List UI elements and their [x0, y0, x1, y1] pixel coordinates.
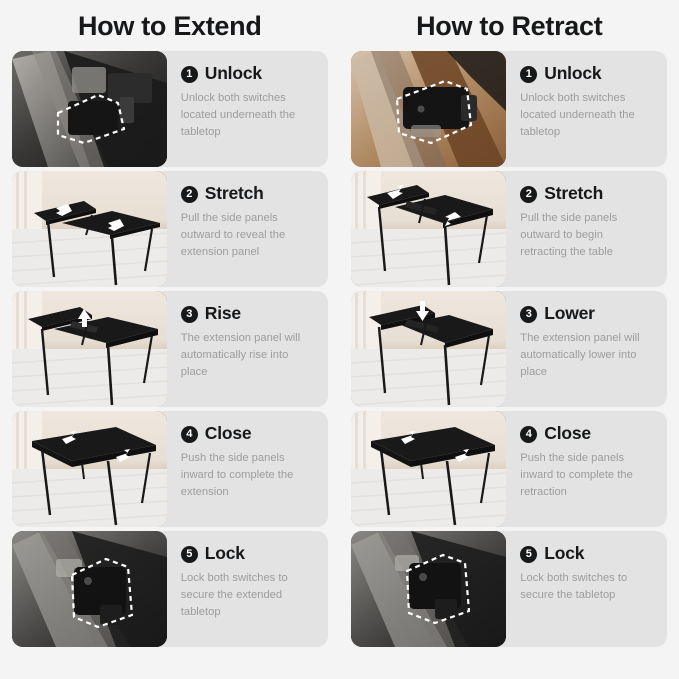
step-card: 2 Stretch Pull the side panels outward t…	[351, 171, 667, 287]
step-number-badge: 5	[181, 546, 198, 563]
step-header: 4 Close	[181, 424, 318, 443]
step-description: The extension panel will automatically r…	[181, 330, 309, 381]
step-image-table-split	[12, 171, 167, 287]
step-text: 2 Stretch Pull the side panels outward t…	[167, 171, 328, 287]
column-title-retract: How to Retract	[416, 10, 602, 42]
step-header: 5 Lock	[181, 544, 318, 563]
step-header: 4 Close	[520, 424, 657, 443]
step-card: 3 Lower The extension panel will automat…	[351, 291, 667, 407]
step-text: 5 Lock Lock both switches to secure the …	[167, 531, 328, 647]
step-image-table-split	[351, 171, 506, 287]
step-header: 1 Unlock	[520, 64, 657, 83]
step-number-badge: 1	[181, 66, 198, 83]
step-card: 5 Lock Lock both switches to secure the …	[351, 531, 667, 647]
step-text: 3 Rise The extension panel will automati…	[167, 291, 328, 407]
step-card: 1 Unlock Unlock both switches located un…	[12, 51, 328, 167]
step-number-badge: 3	[181, 306, 198, 323]
step-description: Unlock both switches located underneath …	[181, 90, 309, 141]
step-title: Lock	[205, 544, 245, 563]
step-title: Close	[205, 424, 252, 443]
step-header: 2 Stretch	[520, 184, 657, 203]
step-image-table-rise	[12, 291, 167, 407]
step-image-mechanism-wood	[351, 51, 506, 167]
instruction-sheet: How to Extend	[0, 0, 679, 679]
step-description: The extension panel will automatically l…	[520, 330, 648, 381]
step-image-mechanism	[12, 531, 167, 647]
step-number-badge: 4	[520, 426, 537, 443]
step-card: 2 Stretch Pull the side panels outward t…	[12, 171, 328, 287]
step-header: 5 Lock	[520, 544, 657, 563]
step-card: 5 Lock Lock both switches to secure the …	[12, 531, 328, 647]
step-card: 4 Close Push the side panels inward to c…	[351, 411, 667, 527]
step-header: 2 Stretch	[181, 184, 318, 203]
step-description: Lock both switches to secure the tableto…	[520, 570, 648, 604]
step-header: 3 Rise	[181, 304, 318, 323]
step-title: Lock	[544, 544, 584, 563]
step-text: 4 Close Push the side panels inward to c…	[167, 411, 328, 527]
step-description: Pull the side panels outward to reveal t…	[181, 210, 309, 261]
step-number-badge: 2	[181, 186, 198, 203]
step-title: Rise	[205, 304, 241, 323]
step-title: Stretch	[205, 184, 264, 203]
step-list-extend: 1 Unlock Unlock both switches located un…	[12, 51, 328, 647]
step-description: Push the side panels inward to complete …	[181, 450, 309, 501]
step-number-badge: 2	[520, 186, 537, 203]
step-image-table-lower	[351, 291, 506, 407]
step-number-badge: 1	[520, 66, 537, 83]
step-image-table-closed	[351, 411, 506, 527]
step-title: Unlock	[205, 64, 262, 83]
step-title: Unlock	[544, 64, 601, 83]
step-title: Stretch	[544, 184, 603, 203]
step-description: Pull the side panels outward to begin re…	[520, 210, 648, 261]
step-number-badge: 3	[520, 306, 537, 323]
step-description: Lock both switches to secure the extende…	[181, 570, 309, 621]
step-header: 3 Lower	[520, 304, 657, 323]
step-title: Close	[544, 424, 591, 443]
column-extend: How to Extend	[0, 0, 340, 679]
step-number-badge: 5	[520, 546, 537, 563]
column-title-extend: How to Extend	[78, 10, 262, 42]
step-list-retract: 1 Unlock Unlock both switches located un…	[351, 51, 667, 647]
step-title: Lower	[544, 304, 595, 323]
step-card: 1 Unlock Unlock both switches located un…	[351, 51, 667, 167]
step-image-mechanism	[351, 531, 506, 647]
step-card: 3 Rise The extension panel will automati…	[12, 291, 328, 407]
step-card: 4 Close Push the side panels inward to c…	[12, 411, 328, 527]
step-description: Push the side panels inward to complete …	[520, 450, 648, 501]
step-number-badge: 4	[181, 426, 198, 443]
step-text: 3 Lower The extension panel will automat…	[506, 291, 667, 407]
step-text: 2 Stretch Pull the side panels outward t…	[506, 171, 667, 287]
column-retract: How to Retract	[340, 0, 679, 679]
step-text: 1 Unlock Unlock both switches located un…	[167, 51, 328, 167]
step-text: 5 Lock Lock both switches to secure the …	[506, 531, 667, 647]
step-image-table-closed	[12, 411, 167, 527]
step-text: 1 Unlock Unlock both switches located un…	[506, 51, 667, 167]
step-header: 1 Unlock	[181, 64, 318, 83]
step-description: Unlock both switches located underneath …	[520, 90, 648, 141]
step-text: 4 Close Push the side panels inward to c…	[506, 411, 667, 527]
step-image-mechanism	[12, 51, 167, 167]
